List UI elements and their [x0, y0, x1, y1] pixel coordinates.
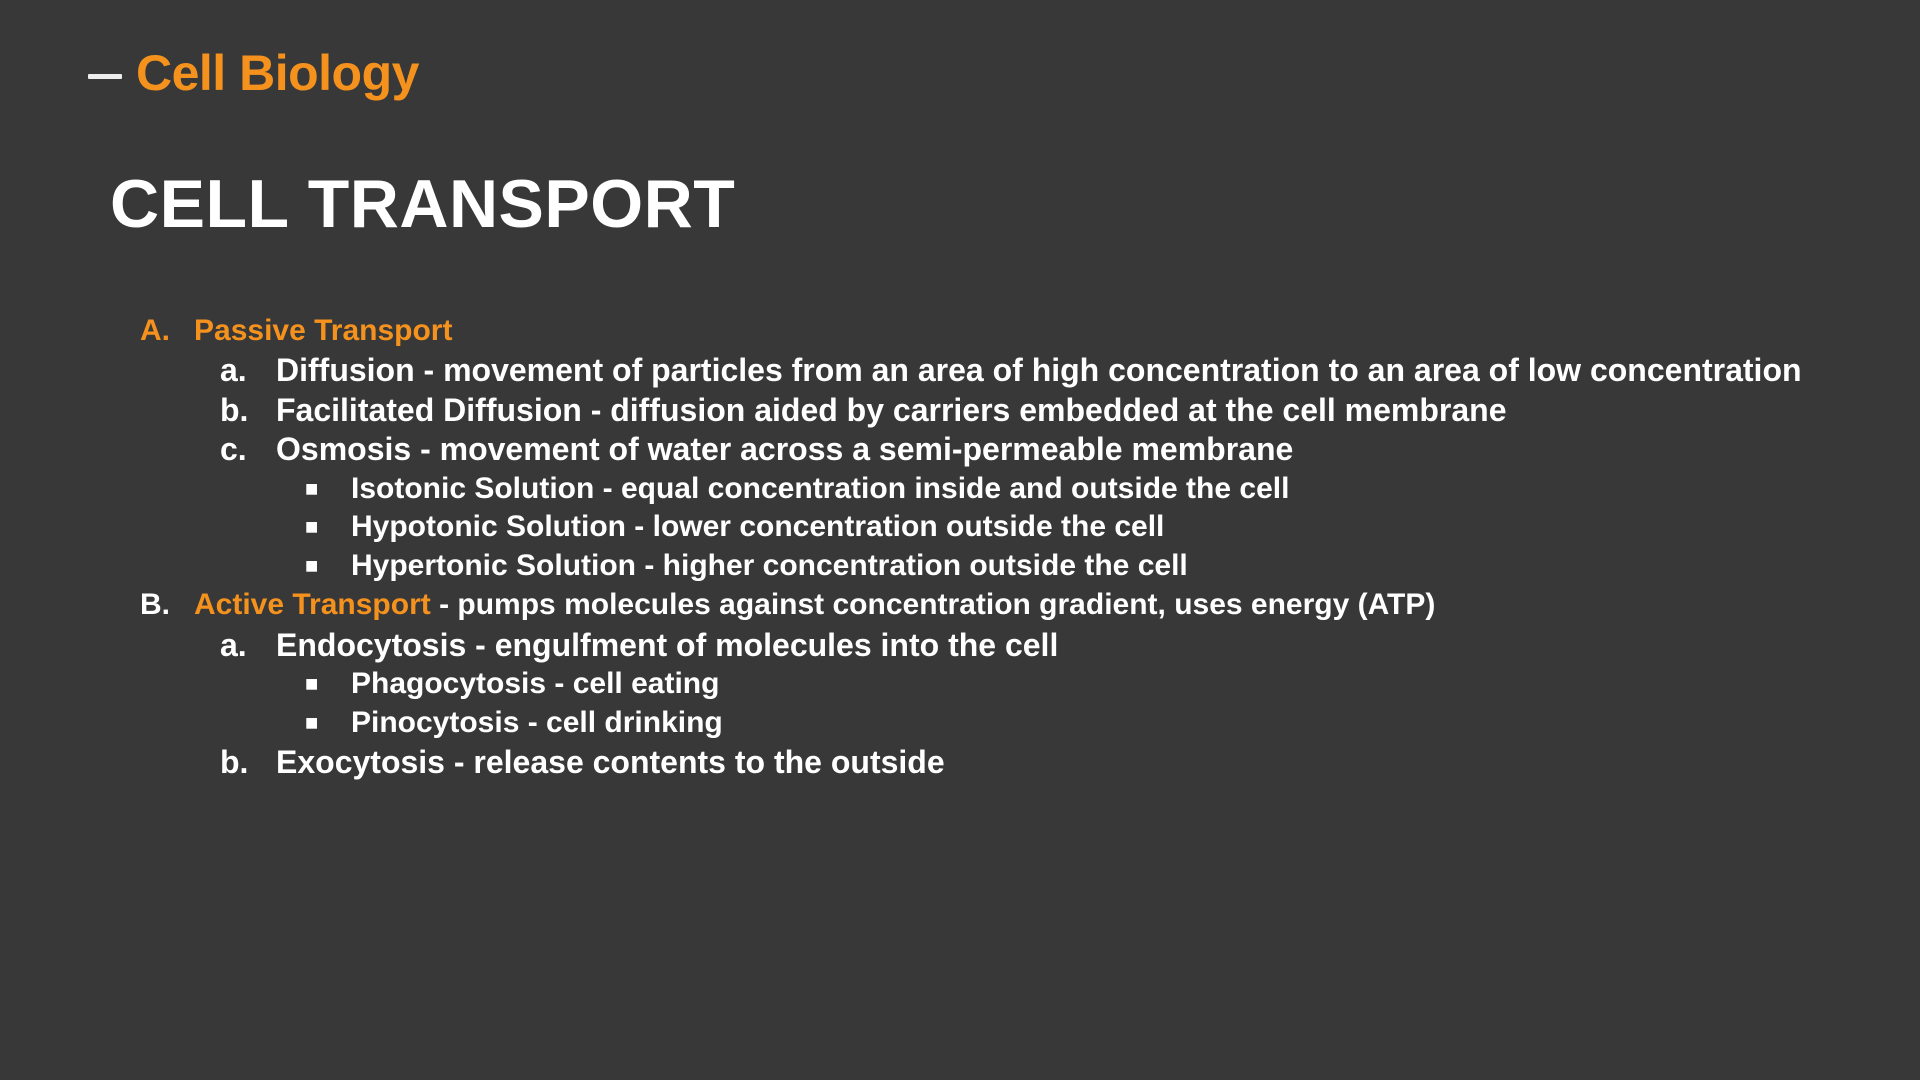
list-item-text: Hypotonic Solution - lower concentration…	[351, 509, 1840, 546]
outline-section-b: B. Active Transport - pumps molecules ag…	[140, 586, 1840, 624]
slide-canvas: Cell Biology CELL TRANSPORT A. Passive T…	[0, 0, 1920, 1080]
list-item: ■ Phagocytosis - cell eating	[305, 666, 1840, 703]
list-item: ■ Hypotonic Solution - lower concentrati…	[305, 509, 1840, 546]
outline-section-a: A. Passive Transport	[140, 312, 1840, 350]
list-marker: B.	[140, 586, 194, 624]
list-item-text: Phagocytosis - cell eating	[351, 666, 1840, 703]
list-item: a. Diffusion - movement of particles fro…	[220, 352, 1840, 389]
list-item-text: Pinocytosis - cell drinking	[351, 705, 1840, 742]
list-marker: b.	[220, 392, 276, 429]
list-item-text: Isotonic Solution - equal concentration …	[351, 471, 1840, 508]
outline-heading-a: Passive Transport	[194, 312, 1840, 350]
list-item: ■ Isotonic Solution - equal concentratio…	[305, 471, 1840, 508]
dash-icon	[88, 74, 122, 79]
list-item: a. Endocytosis - engulfment of molecules…	[220, 627, 1840, 664]
list-marker: a.	[220, 352, 276, 389]
heading-rest-text: - pumps molecules against concentration …	[431, 588, 1436, 621]
list-marker: a.	[220, 627, 276, 664]
list-marker: c.	[220, 431, 276, 468]
square-bullet-icon: ■	[305, 705, 351, 741]
list-item-text: Diffusion - movement of particles from a…	[276, 352, 1840, 389]
slide-kicker: Cell Biology	[88, 48, 419, 98]
heading-accent-text: Passive Transport	[194, 314, 452, 347]
kicker-label: Cell Biology	[136, 48, 419, 98]
list-item: b. Facilitated Diffusion - diffusion aid…	[220, 392, 1840, 429]
list-item-text: Exocytosis - release contents to the out…	[276, 744, 1840, 781]
outline-heading-b: Active Transport - pumps molecules again…	[194, 586, 1840, 624]
list-item: ■ Hypertonic Solution - higher concentra…	[305, 548, 1840, 585]
heading-accent-text: Active Transport	[194, 588, 431, 621]
square-bullet-icon: ■	[305, 509, 351, 545]
square-bullet-icon: ■	[305, 471, 351, 507]
list-item-text: Facilitated Diffusion - diffusion aided …	[276, 392, 1840, 429]
list-item: b. Exocytosis - release contents to the …	[220, 744, 1840, 781]
square-bullet-icon: ■	[305, 548, 351, 584]
page-title: CELL TRANSPORT	[110, 170, 735, 238]
outline-list: A. Passive Transport a. Diffusion - move…	[140, 312, 1840, 783]
list-item-text: Osmosis - movement of water across a sem…	[276, 431, 1840, 468]
list-item: ■ Pinocytosis - cell drinking	[305, 705, 1840, 742]
list-item-text: Hypertonic Solution - higher concentrati…	[351, 548, 1840, 585]
square-bullet-icon: ■	[305, 666, 351, 702]
list-item-text: Endocytosis - engulfment of molecules in…	[276, 627, 1840, 664]
list-marker: b.	[220, 744, 276, 781]
list-item: c. Osmosis - movement of water across a …	[220, 431, 1840, 468]
list-marker: A.	[140, 312, 194, 350]
